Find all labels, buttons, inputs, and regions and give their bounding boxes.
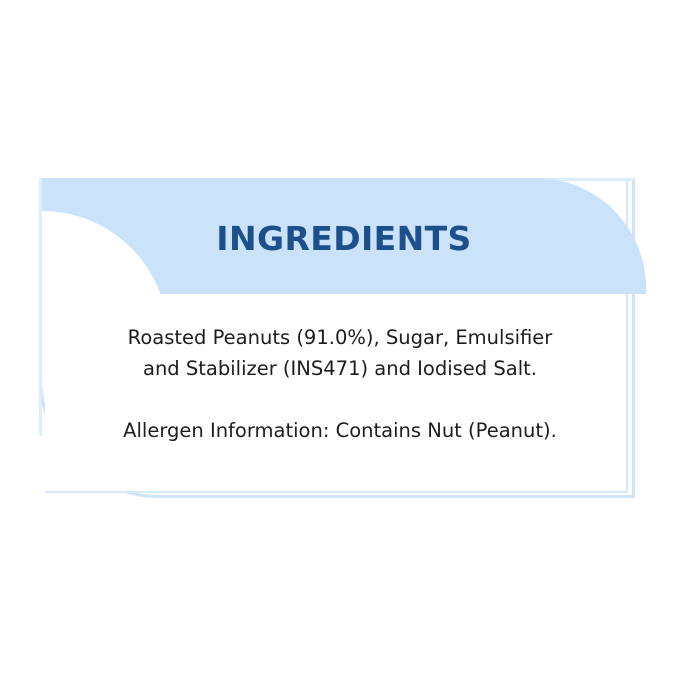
page-title: INGREDIENTS — [42, 219, 646, 258]
ingredients-panel-stage: INGREDIENTS Roasted Peanuts (91.0%), Sug… — [0, 0, 679, 679]
ingredients-text-line-1: Roasted Peanuts (91.0%), Sugar, Emulsifi… — [60, 322, 620, 353]
allergen-information-text: Allergen Information: Contains Nut (Pean… — [60, 415, 620, 446]
ingredients-text-line-2: and Stabilizer (INS471) and Iodised Salt… — [60, 353, 620, 384]
panel-left-edge-line — [39, 178, 42, 436]
ingredients-body: Roasted Peanuts (91.0%), Sugar, Emulsifi… — [60, 322, 620, 446]
